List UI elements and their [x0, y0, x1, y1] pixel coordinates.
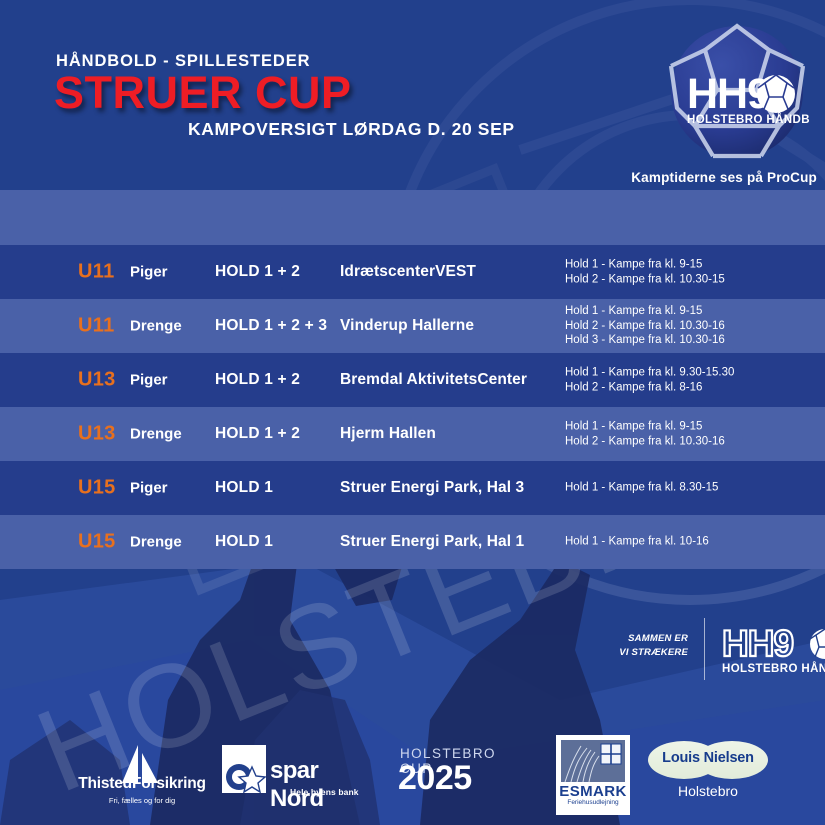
table-row[interactable]: U13 Drenge HOLD 1 + 2 Hjerm Hallen Hold …: [0, 407, 825, 461]
row-age: U11: [78, 261, 115, 284]
row-hold: HOLD 1 + 2: [215, 371, 300, 389]
hh90-outline-icon: HH9 HOLSTEBRO HÅNDBOLD: [720, 620, 825, 678]
small-ball-icon: [757, 75, 795, 113]
row-hold: HOLD 1 + 2: [215, 425, 300, 443]
row-venue: Vinderup Hallerne: [340, 317, 474, 335]
sponsor-name: ESMARK: [556, 783, 630, 800]
sponsor-esmark[interactable]: ESMARK Feriehusudlejning: [556, 735, 630, 815]
cup-year: 2025: [398, 759, 472, 798]
row-venue: Bremdal AktivitetsCenter: [340, 371, 527, 389]
table-row[interactable]: U11 Piger HOLD 1 + 2 IdrætscenterVEST Ho…: [0, 245, 825, 299]
spar-nord-mark-icon: [222, 745, 266, 793]
footer-small-ball-icon: [810, 629, 825, 659]
row-gender: Piger: [130, 480, 168, 497]
sponsor-holstebro-cup[interactable]: HOLSTEBRO CUP 2025: [398, 743, 530, 807]
page-title: STRUER CUP: [54, 70, 352, 115]
table-row[interactable]: U13 Piger HOLD 1 + 2 Bremdal AktivitetsC…: [0, 353, 825, 407]
row-venue: Hjerm Hallen: [340, 425, 436, 443]
footer-logo-mark: HH9: [722, 623, 793, 664]
row-gender: Drenge: [130, 534, 182, 551]
brand-slogan: SAMMEN ER VI STRÆKERE: [592, 632, 688, 660]
row-hold: HOLD 1: [215, 479, 273, 497]
row-age: U15: [78, 531, 116, 554]
sponsor-city: Holstebro: [648, 783, 768, 799]
row-venue: IdrætscenterVEST: [340, 263, 476, 281]
row-gender: Drenge: [130, 426, 182, 443]
esmark-photo-icon: [561, 740, 625, 782]
sponsor-louis-nielsen[interactable]: Louis Nielsen Holstebro: [648, 741, 768, 809]
table-row[interactable]: U11 Drenge HOLD 1 + 2 + 3 Vinderup Halle…: [0, 299, 825, 353]
schedule-table: U11 Piger HOLD 1 + 2 IdrætscenterVEST Ho…: [0, 190, 825, 569]
row-hold: HOLD 1: [215, 533, 273, 551]
row-gender: Drenge: [130, 318, 182, 335]
sponsor-name: ThistedForsikring: [72, 775, 212, 793]
header: HÅNDBOLD - SPILLESTEDER STRUER CUP KAMPO…: [0, 0, 825, 190]
hh90-ball-logo: HH9 HOLSTEBRO HÅNDBOLD: [665, 22, 810, 167]
sponsor-thisted-forsikring[interactable]: ThistedForsikring Fri, fælles og for dig: [72, 743, 212, 807]
logo-name-text: HOLSTEBRO HÅNDBOLD: [687, 113, 810, 126]
row-times: Hold 1 - Kampe fra kl. 8.30-15: [565, 481, 718, 496]
row-hold: HOLD 1 + 2: [215, 263, 300, 281]
sponsor-tagline: Fri, fælles og for dig: [72, 796, 212, 805]
row-age: U11: [78, 315, 115, 338]
row-times: Hold 1 - Kampe fra kl. 10-16: [565, 535, 709, 550]
sponsor-tagline: Hele byens bank: [290, 787, 359, 797]
row-age: U13: [78, 423, 116, 446]
row-age: U13: [78, 369, 116, 392]
sponsor-strip: ThistedForsikring Fri, fælles og for dig…: [0, 725, 825, 825]
table-row[interactable]: U15 Piger HOLD 1 Struer Energi Park, Hal…: [0, 461, 825, 515]
row-gender: Piger: [130, 372, 168, 389]
sponsor-spar-nord[interactable]: spar Nord Hele byens bank: [222, 743, 374, 807]
brand-divider: [704, 618, 705, 680]
row-venue: Struer Energi Park, Hal 1: [340, 533, 524, 551]
sponsor-name: spar Nord: [270, 757, 374, 813]
hh90-footer-logo: HH9 HOLSTEBRO HÅNDBOLD: [720, 620, 825, 678]
row-venue: Struer Energi Park, Hal 3: [340, 479, 524, 497]
table-row[interactable]: U15 Drenge HOLD 1 Struer Energi Park, Ha…: [0, 515, 825, 569]
row-times: Hold 1 - Kampe fra kl. 9.30-15.30 Hold 2…: [565, 365, 734, 394]
row-hold: HOLD 1 + 2 + 3: [215, 317, 327, 335]
footer-logo-name: HOLSTEBRO HÅNDBOLD: [722, 662, 825, 675]
footer-brand: SAMMEN ER VI STRÆKERE HH9 HOLSTEBRO HÅND…: [588, 618, 825, 680]
handball-icon: HH9 HOLSTEBRO HÅNDBOLD: [665, 22, 810, 167]
row-gender: Piger: [130, 264, 168, 281]
procup-note: Kamptiderne ses på ProCup: [631, 170, 817, 185]
header-subtitle: KAMPOVERSIGT LØRDAG D. 20 SEP: [188, 119, 515, 140]
table-top-band: [0, 190, 825, 245]
sponsor-tagline: Feriehusudlejning: [556, 799, 630, 806]
row-times: Hold 1 - Kampe fra kl. 9-15 Hold 2 - Kam…: [565, 304, 725, 348]
row-times: Hold 1 - Kampe fra kl. 9-15 Hold 2 - Kam…: [565, 419, 725, 448]
row-age: U15: [78, 477, 116, 500]
row-times: Hold 1 - Kampe fra kl. 9-15 Hold 2 - Kam…: [565, 257, 725, 286]
sponsor-name: Louis Nielsen: [648, 750, 768, 766]
